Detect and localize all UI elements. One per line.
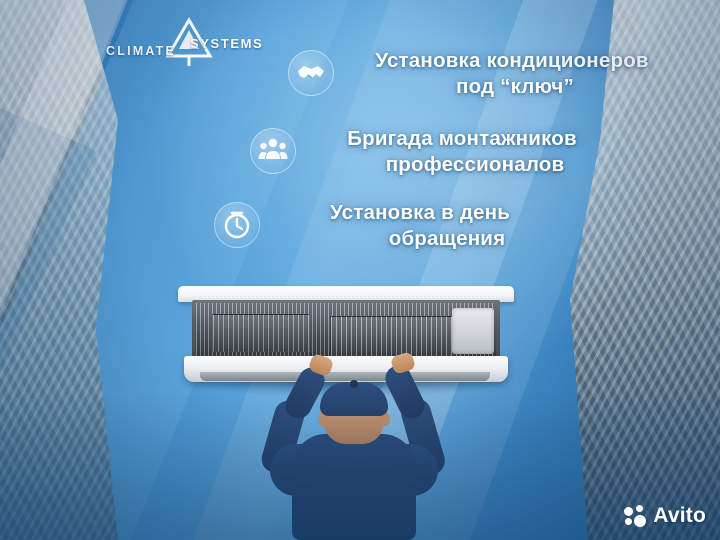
brand-logo: CLIMATE SYSTEMS — [104, 16, 274, 68]
benefit-item-3: Установка в день обращения — [214, 200, 614, 252]
benefit-item-1: Установка кондиционеров под “ключ” — [288, 48, 688, 100]
handshake-icon — [288, 50, 334, 96]
avito-dot-4 — [634, 515, 646, 527]
benefit-text-2: Бригада монтажников профессионалов — [306, 126, 618, 178]
people-group-icon — [250, 128, 296, 174]
avito-dot-3 — [625, 518, 632, 525]
logo-word-climate: CLIMATE — [106, 44, 176, 58]
benefit-1-line-2: под “ключ” — [350, 74, 680, 100]
avito-watermark: Avito — [624, 504, 706, 528]
benefit-2-line-2: профессионалов — [332, 152, 618, 178]
technician-torso — [292, 434, 416, 540]
benefit-3-line-2: обращения — [324, 226, 570, 252]
avito-dot-2 — [636, 505, 643, 512]
benefit-text-3: Установка в день обращения — [270, 200, 570, 252]
benefit-3-line-1: Установка в день — [330, 201, 510, 224]
ac-filter-left — [212, 314, 310, 352]
ac-internal-coil — [192, 300, 500, 362]
benefit-1-line-1: Установка кондиционеров — [375, 49, 648, 72]
avito-dot-1 — [624, 507, 633, 516]
ac-control-box — [452, 308, 494, 354]
logo-word-systems: SYSTEMS — [190, 36, 263, 51]
benefit-item-2: Бригада монтажников профессионалов — [250, 126, 650, 178]
avito-dots-icon — [624, 505, 646, 527]
technician-cap-button — [350, 380, 358, 388]
ac-filter-right — [330, 316, 460, 358]
benefit-2-line-1: Бригада монтажников — [347, 127, 577, 150]
clock-icon — [214, 202, 260, 248]
ad-banner: CLIMATE SYSTEMS Установка кондиционеров … — [0, 0, 720, 540]
benefit-text-1: Установка кондиционеров под “ключ” — [344, 48, 680, 100]
technician-figure — [246, 360, 458, 540]
avito-wordmark: Avito — [653, 504, 706, 528]
